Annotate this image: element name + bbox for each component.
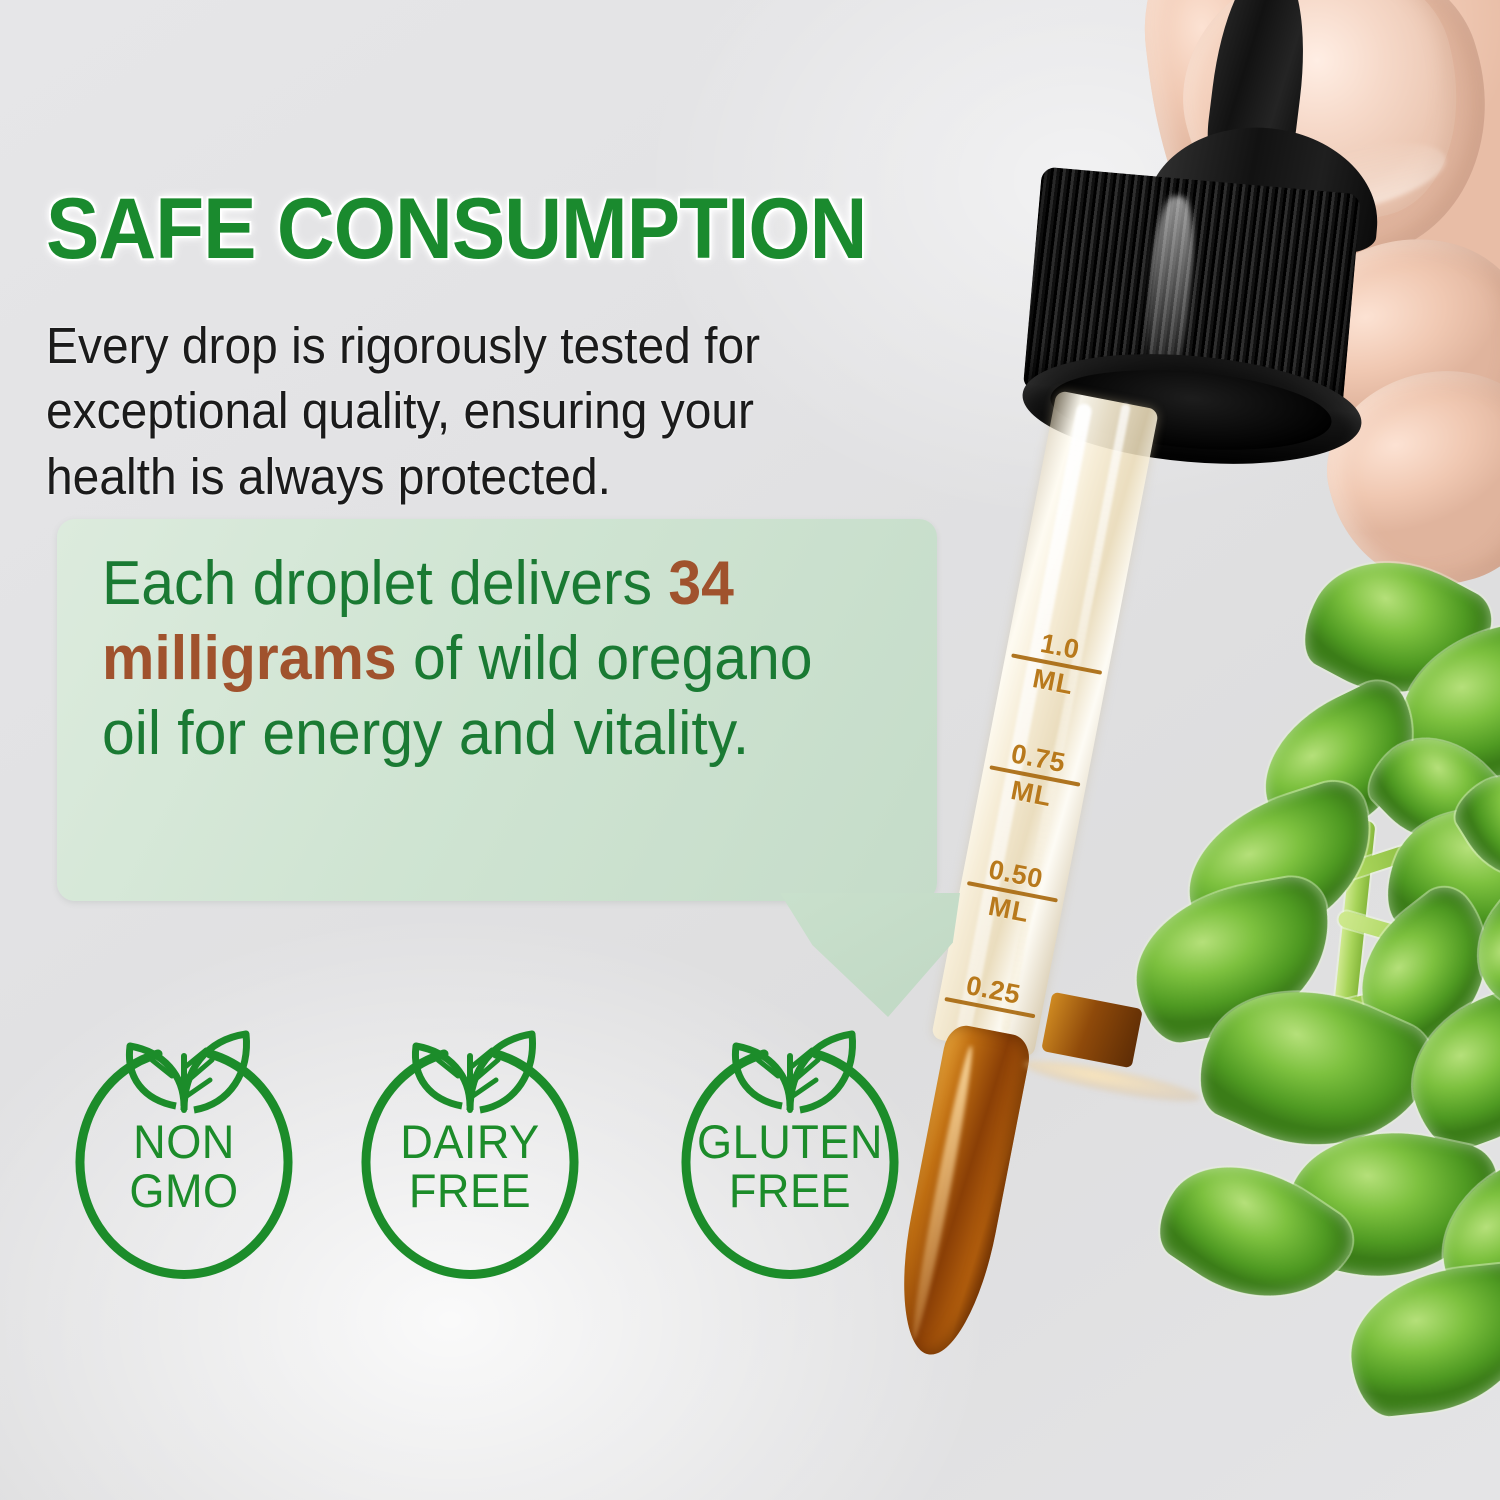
callout-text: Each droplet delivers 34 milligrams of w… [102, 546, 862, 771]
badge-label-non-gmo: NON GMO [65, 1118, 303, 1216]
badge-label-dairy-free: DAIRY FREE [351, 1118, 589, 1216]
certification-badges: NON GMO DAIRY FREE [58, 1006, 918, 1296]
oregano-plant [1140, 570, 1500, 1400]
badge-label-gluten-free: GLUTEN FREE [671, 1118, 909, 1216]
oil-neck [1041, 992, 1143, 1068]
marking-025ml: 0.25 [938, 967, 1047, 1021]
marking-1ml: 1.0 ML [1000, 624, 1114, 706]
badge-non-gmo: NON GMO [60, 1006, 308, 1288]
badge-gluten-free: GLUTEN FREE [666, 1006, 914, 1288]
pipette-measurement-markings: 1.0 ML 0.75 ML 0.50 ML 0.25 [931, 390, 1159, 1058]
marking-075ml: 0.75 ML [978, 736, 1092, 818]
marking-050ml: 0.50 ML [955, 851, 1069, 933]
subtitle-copy: Every drop is rigorously tested for exce… [46, 313, 873, 509]
callout-line-2: of wild [413, 624, 580, 693]
product-infographic: 1.0 ML 0.75 ML 0.50 ML 0.25 [0, 0, 1500, 1500]
badge-dairy-free: DAIRY FREE [346, 1006, 594, 1288]
page-title: SAFE CONSUMPTION [46, 180, 867, 279]
callout-line-1: Each droplet delivers [102, 549, 652, 618]
callout-line-4: and vitality. [459, 699, 749, 768]
